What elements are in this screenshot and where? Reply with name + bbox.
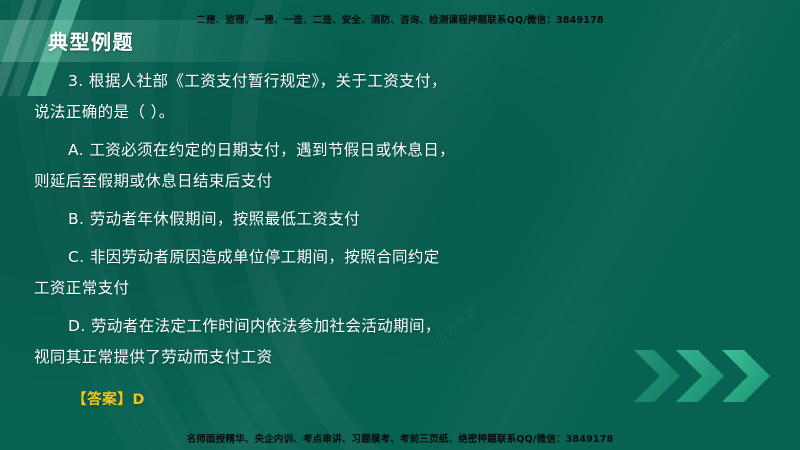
chevron-group-icon: [632, 346, 782, 406]
bottom-promo-banner: 名师面授精华、央企内训、考点串讲、习题模考、考前三页纸、绝密押题联系QQ/微信：…: [0, 431, 800, 445]
question-stem-line-2: 说法正确的是（ ）。: [34, 97, 594, 128]
spacer: [34, 235, 594, 242]
option-c-line-1: C. 非因劳动者原因造成单位停工期间，按照合同约定: [34, 242, 594, 273]
option-d-line-2: 视同其正常提供了劳动而支付工资: [34, 342, 594, 373]
chevron-right-icon: [634, 350, 680, 402]
page-title: 典型例题: [48, 26, 134, 55]
chevron-right-icon: [722, 350, 770, 402]
chevron-right-icon: [676, 350, 724, 402]
question-body: 3. 根据人社部《工资支付暂行规定》，关于工资支付， 说法正确的是（ ）。 A.…: [34, 66, 594, 373]
spacer: [34, 304, 594, 311]
option-c-line-2: 工资正常支付: [34, 273, 594, 304]
option-a-line-1: A. 工资必须在约定的日期支付，遇到节假日或休息日，: [34, 135, 594, 166]
spacer: [34, 128, 594, 135]
spacer: [34, 197, 594, 204]
option-a-line-2: 则延后至假期或休息日结束后支付: [34, 166, 594, 197]
chevron-decoration: [632, 346, 782, 398]
question-stem-line-1: 3. 根据人社部《工资支付暂行规定》，关于工资支付，: [34, 66, 594, 97]
slide-canvas: 名师押题 名师押题 二建、监理、一建、一造、二造、安全、消防、咨询、检测课程押题…: [0, 0, 800, 450]
answer-text: 【答案】D: [72, 388, 145, 409]
option-d-line-1: D. 劳动者在法定工作时间内依法参加社会活动期间，: [34, 311, 594, 342]
option-b-line-1: B. 劳动者年休假期间，按照最低工资支付: [34, 204, 594, 235]
